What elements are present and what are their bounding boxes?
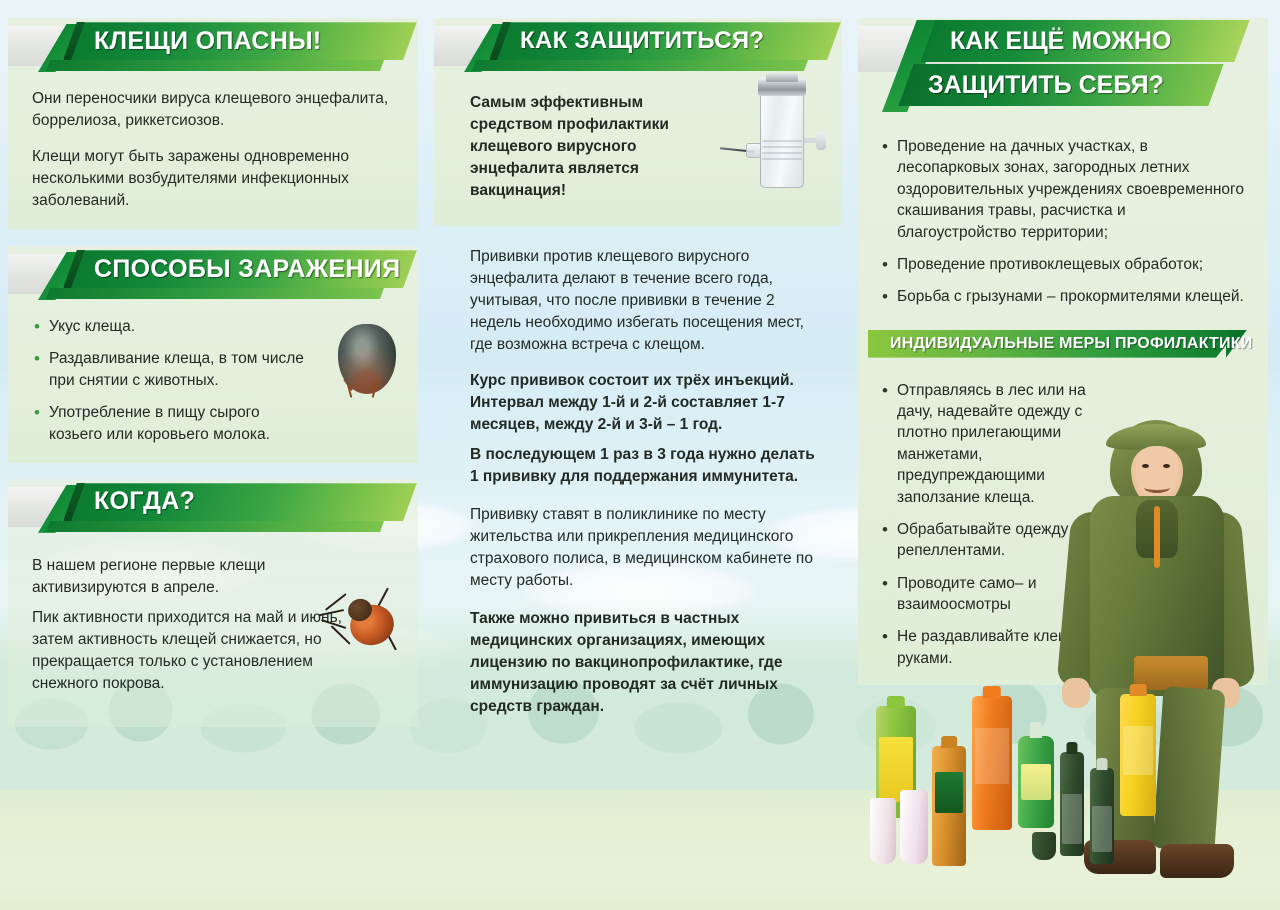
section-heading-banner: КЛЕЩИ ОПАСНЫ! (8, 18, 418, 74)
section-title-line2: ЗАЩИТИТЬ СЕБЯ? (928, 64, 1268, 106)
paragraph: Прививки против клещевого вирусного энце… (470, 246, 820, 356)
subsection-title: ИНДИВИДУАЛЬНЫЕ МЕРЫ ПРОФИЛАКТИКИ (890, 330, 1252, 358)
section-body: Укус клеща. Раздавливание клеща, в том ч… (8, 302, 418, 463)
vial-glass (760, 90, 804, 188)
eye-left (1142, 464, 1149, 468)
smile-shape (1144, 482, 1170, 493)
product-bottle-picnic-super (1120, 694, 1156, 816)
section-body: Проведение на дачных участках, в лесопар… (858, 114, 1268, 324)
section-heading-banner: КАК ЗАЩИТИТЬСЯ? (434, 18, 842, 74)
paragraph: Они переносчики вируса клещевого энцефал… (32, 88, 394, 132)
general-protection-bullet-list: Проведение на дачных участках, в лесопар… (880, 136, 1246, 308)
section-transmission-routes: СПОСОБЫ ЗАРАЖЕНИЯ Укус клеща. Раздавлива… (8, 246, 418, 463)
product-cap-loose (1032, 832, 1056, 860)
section-title-line1: КАК ЕЩЁ МОЖНО (950, 20, 1268, 62)
section-body: В нашем регионе первые клещи активизирую… (8, 535, 418, 727)
product-bottle-off-extreme (932, 746, 966, 866)
banner-under-bar (46, 521, 384, 532)
paragraph: Пик активности приходится на май и июнь,… (32, 607, 342, 695)
boot-right (1160, 844, 1234, 878)
section-title: КОГДА? (94, 483, 408, 521)
vial-label (762, 140, 802, 162)
vaccine-vial-icon (734, 74, 826, 196)
list-item: Употребление в пищу сырого козьего или к… (32, 402, 308, 445)
product-tube-barrier-2 (900, 790, 928, 864)
section-heading-banner: КОГДА? (8, 479, 418, 535)
column-left: КЛЕЩИ ОПАСНЫ! Они переносчики вируса кле… (0, 0, 426, 910)
product-bottle-taiga (1018, 736, 1054, 828)
brochure-columns: КЛЕЩИ ОПАСНЫ! Они переносчики вируса кле… (0, 0, 1280, 910)
banner-under-bar (46, 288, 384, 299)
product-bottle-moskitol-2 (1090, 768, 1114, 864)
vial-cap (758, 78, 806, 96)
subsection-heading-bar: ИНДИВИДУАЛЬНЫЕ МЕРЫ ПРОФИЛАКТИКИ (868, 330, 1260, 360)
list-item: Раздавливание клеща, в том числе при сня… (32, 348, 308, 391)
banner-under-bar (46, 60, 384, 71)
list-item: Проведение противоклещевых обработок; (880, 254, 1246, 275)
list-item: Борьба с грызунами – прокормителями клещ… (880, 286, 1246, 307)
section-heading-banner-two-line: КАК ЕЩЁ МОЖНО ЗАЩИТИТЬ СЕБЯ? (858, 18, 1268, 114)
section-ticks-are-dangerous: КЛЕЩИ ОПАСНЫ! Они переносчики вируса кле… (8, 18, 418, 230)
product-bottle-moskitol-1 (1060, 752, 1084, 856)
paragraph: Курс прививок состоит их трёх инъекций. … (470, 370, 820, 436)
section-heading-banner: СПОСОБЫ ЗАРАЖЕНИЯ (8, 246, 418, 302)
list-item: Проведение на дачных участках, в лесопар… (880, 136, 1246, 243)
section-body: Прививки против клещевого вирусного энце… (434, 226, 842, 718)
section-body: Самым эффективным средством профилактики… (434, 74, 842, 226)
paragraph: Прививку ставят в поликлинике по месту ж… (470, 504, 820, 592)
transmission-bullet-list: Укус клеща. Раздавливание клеща, в том ч… (32, 316, 308, 445)
section-when: КОГДА? В нашем регионе первые клещи акти… (8, 479, 418, 727)
paragraph-vaccination-intro: Самым эффективным средством профилактики… (470, 92, 720, 202)
repellent-products-image (868, 690, 1168, 890)
jacket-zipper (1154, 506, 1160, 568)
product-bottle-deta (972, 696, 1012, 830)
section-title: СПОСОБЫ ЗАРАЖЕНИЯ (94, 250, 408, 288)
syringe-thumb-rest (816, 132, 826, 150)
engorged-tick-icon (338, 324, 396, 394)
paragraph: Также можно привиться в частных медицинс… (470, 608, 820, 718)
eye-right (1163, 464, 1170, 468)
banner-under-bar (472, 60, 808, 71)
product-tube-barrier-1 (870, 798, 896, 864)
paragraph: В последующем 1 раз в 3 года нужно делат… (470, 444, 820, 488)
section-title: КАК ЗАЩИТИТЬСЯ? (520, 22, 832, 60)
section-body: Они переносчики вируса клещевого энцефал… (8, 74, 418, 230)
column-right: КАК ЕЩЁ МОЖНО ЗАЩИТИТЬ СЕБЯ? Проведение … (850, 0, 1276, 910)
tick-legs (338, 324, 396, 394)
paragraph: В нашем регионе первые клещи активизирую… (32, 555, 332, 599)
section-vaccination-details: Прививки против клещевого вирусного энце… (434, 226, 842, 718)
section-how-to-protect: КАК ЗАЩИТИТЬСЯ? Самым эффективным средст… (434, 18, 842, 226)
column-middle: КАК ЗАЩИТИТЬСЯ? Самым эффективным средст… (426, 0, 850, 910)
paragraph: Клещи могут быть заражены одновременно н… (32, 146, 394, 212)
list-item: Укус клеща. (32, 316, 308, 337)
adult-tick-icon (318, 575, 414, 671)
section-title: КЛЕЩИ ОПАСНЫ! (94, 22, 408, 60)
